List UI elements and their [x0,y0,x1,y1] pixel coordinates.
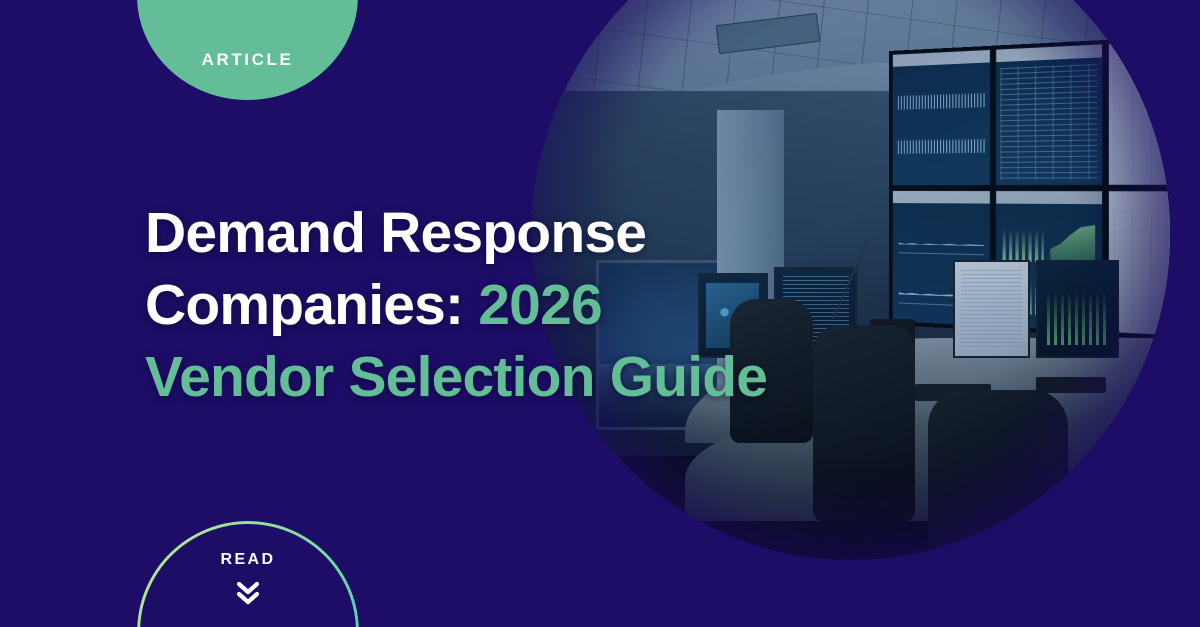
read-cta-button[interactable]: READ [137,521,359,627]
headline-text: Demand Response Companies: 2026 Vendor S… [145,198,845,413]
headline-line-2-white: Companies: [145,273,463,337]
article-badge-label: ARTICLE [202,50,294,70]
article-badge: ARTICLE [137,0,358,100]
article-hero-banner: ARTICLE Demand Response Companies: 2026 … [0,0,1200,627]
headline-line-3-accent: Vendor Selection Guide [145,345,767,409]
double-chevron-down-icon [235,579,261,612]
read-cta-label: READ [221,551,276,569]
headline-line-1: Demand Response [145,201,646,265]
headline-line-2-accent: 2026 [478,273,602,337]
page-title: Demand Response Companies: 2026 Vendor S… [145,198,845,413]
